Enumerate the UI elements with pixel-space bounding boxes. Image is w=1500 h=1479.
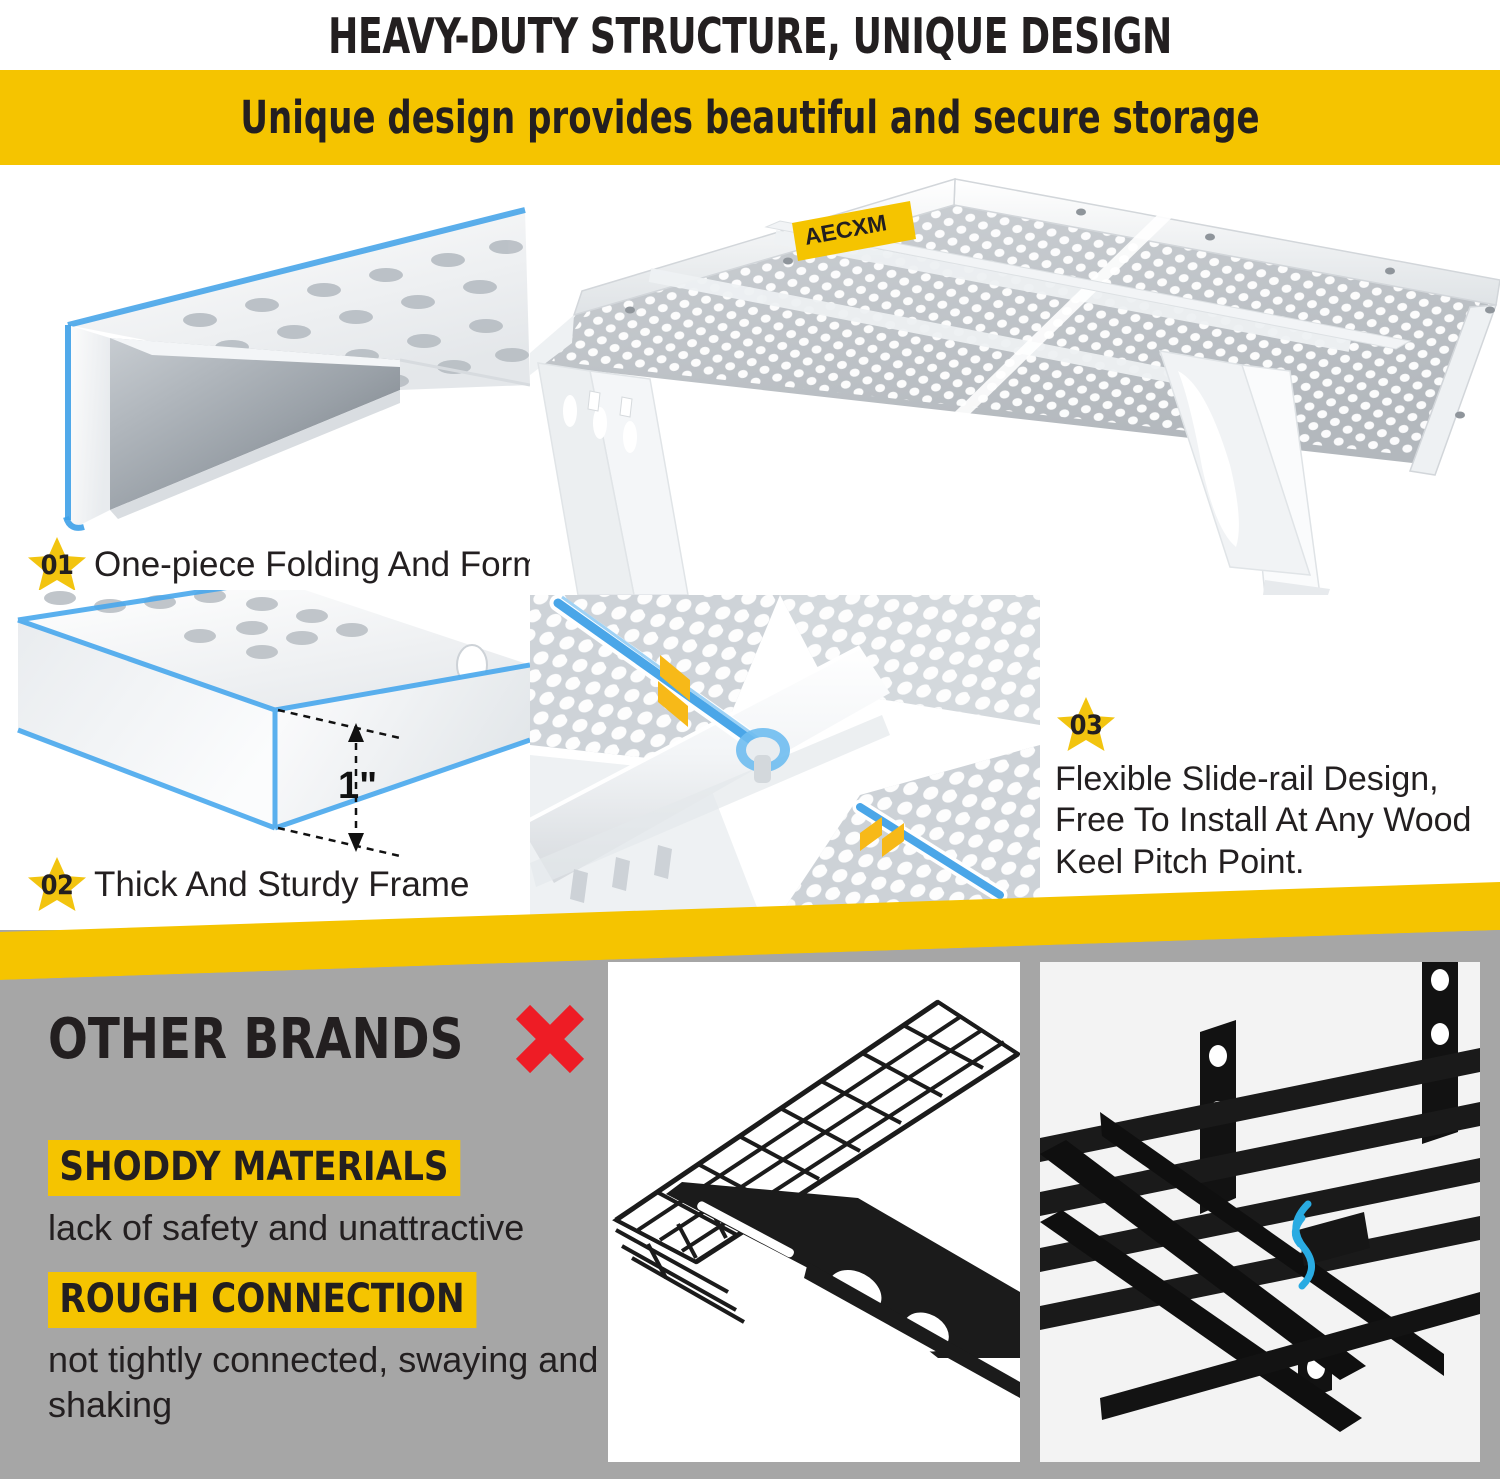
black-bar-rack-photo: [1040, 962, 1480, 1462]
infographic-page: HEAVY-DUTY STRUCTURE, UNIQUE DESIGN Uniq…: [0, 0, 1500, 1479]
features-section: 01 One-piece Folding And Forming: [0, 165, 1500, 925]
comparison-item-1: SHODDY MATERIALS lack of safety and unat…: [48, 1140, 608, 1250]
comparison-item-1-body: lack of safety and unattractive: [48, 1205, 608, 1250]
main-shelf-photo: AECXM: [530, 175, 1500, 595]
comparison-item-2: ROUGH CONNECTION not tightly connected, …: [48, 1272, 608, 1427]
dimension-label: 1": [338, 765, 377, 807]
comparison-item-2-heading: ROUGH CONNECTION: [48, 1272, 476, 1328]
feature-number-01: 01: [41, 552, 74, 579]
wire-mesh-rack-photo: [608, 962, 1020, 1462]
corner-frame-photo: 1": [0, 590, 530, 880]
page-title: HEAVY-DUTY STRUCTURE, UNIQUE DESIGN: [135, 2, 1365, 70]
folded-edge-photo: [0, 175, 530, 535]
red-x-icon: [513, 1002, 587, 1076]
star-badge-01: 01: [26, 535, 88, 595]
comparison-item-1-heading: SHODDY MATERIALS: [48, 1140, 460, 1196]
slide-rail-photo: [530, 595, 1040, 925]
feature-number-03: 03: [1070, 712, 1103, 739]
comparison-item-2-body: not tightly connected, swaying and shaki…: [48, 1337, 608, 1427]
comparison-title: OTHER BRANDS: [48, 1007, 463, 1072]
feature-label-03: Flexible Slide-rail Design, Free To Inst…: [1055, 759, 1487, 883]
feature-label-01: One-piece Folding And Forming: [94, 545, 588, 585]
feature-callout-01: 01 One-piece Folding And Forming: [26, 535, 588, 595]
comparison-title-row: OTHER BRANDS: [48, 1002, 587, 1076]
page-subtitle: Unique design provides beautiful and sec…: [120, 70, 1380, 165]
feature-callout-03: 03 Flexible Slide-rail Design, Free To I…: [1055, 695, 1487, 883]
star-badge-03: 03: [1055, 695, 1117, 755]
